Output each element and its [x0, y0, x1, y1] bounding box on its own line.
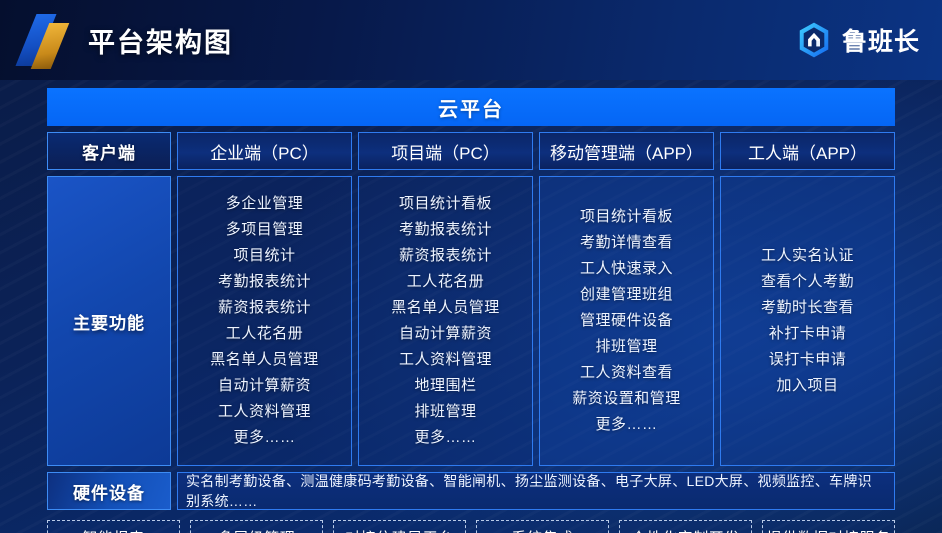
feature-item: 自动计算薪资	[399, 321, 492, 347]
feature-item: 薪资报表统计	[399, 243, 492, 269]
page-title: 平台架构图	[88, 21, 233, 60]
feature-item: 多企业管理	[226, 191, 304, 217]
feature-list-enterprise-pc: 多企业管理多项目管理项目统计考勤报表统计薪资报表统计工人花名册黑名单人员管理自动…	[177, 176, 352, 466]
service-chip[interactable]: 个性化定制开发	[619, 520, 752, 533]
feature-item: 项目统计	[233, 243, 295, 269]
feature-item: 黑名单人员管理	[391, 295, 500, 321]
service-chip[interactable]: 多层级管理	[190, 520, 323, 533]
decorative-slash-logo-icon	[14, 14, 66, 66]
brand-name: 鲁班长	[842, 22, 920, 58]
feature-item: 考勤报表统计	[399, 217, 492, 243]
client-header-worker-app[interactable]: 工人端（APP）	[720, 132, 895, 170]
service-chip[interactable]: 对接住建局平台	[333, 520, 466, 533]
feature-list-project-pc: 项目统计看板考勤报表统计薪资报表统计工人花名册黑名单人员管理自动计算薪资工人资料…	[358, 176, 533, 466]
hardware-row: 硬件设备 实名制考勤设备、测温健康码考勤设备、智能闸机、扬尘监测设备、电子大屏、…	[47, 472, 895, 510]
diagram-body: 云平台 客户端 企业端（PC） 项目端（PC） 移动管理端（APP） 工人端（A…	[0, 80, 942, 533]
row-label-client: 客户端	[47, 132, 171, 170]
service-chip[interactable]: 提供数据对接服务	[762, 520, 895, 533]
brand-logo: 鲁班长	[795, 21, 920, 59]
cloud-platform-banner: 云平台	[47, 88, 895, 126]
platform-architecture-diagram: 平台架构图 鲁班长 云平台 客户端 企业端（PC） 项	[0, 0, 942, 533]
feature-item: 工人资料管理	[399, 347, 492, 373]
feature-item: 项目统计看板	[399, 191, 492, 217]
feature-item: 更多……	[414, 425, 476, 451]
feature-item: 考勤时长查看	[761, 295, 854, 321]
row-label-hardware: 硬件设备	[47, 472, 171, 510]
client-header-mobile-admin-app[interactable]: 移动管理端（APP）	[539, 132, 714, 170]
feature-item: 管理硬件设备	[580, 308, 673, 334]
feature-item: 地理围栏	[414, 373, 476, 399]
feature-item: 多项目管理	[226, 217, 304, 243]
feature-item: 薪资报表统计	[218, 295, 311, 321]
feature-item: 排班管理	[595, 334, 657, 360]
feature-item: 更多……	[595, 412, 657, 438]
feature-list-mobile-admin-app: 项目统计看板考勤详情查看工人快速录入创建管理班组管理硬件设备排班管理工人资料查看…	[539, 176, 714, 466]
service-chip[interactable]: 系统集成	[476, 520, 609, 533]
feature-item: 工人花名册	[226, 321, 304, 347]
hardware-device-list: 实名制考勤设备、测温健康码考勤设备、智能闸机、扬尘监测设备、电子大屏、LED大屏…	[177, 472, 895, 510]
feature-item: 排班管理	[414, 399, 476, 425]
feature-item: 黑名单人员管理	[210, 347, 319, 373]
row-label-main-features: 主要功能	[47, 176, 171, 466]
main-features-row: 主要功能 多企业管理多项目管理项目统计考勤报表统计薪资报表统计工人花名册黑名单人…	[47, 176, 895, 466]
feature-item: 误打卡申请	[769, 347, 847, 373]
client-header-row: 客户端 企业端（PC） 项目端（PC） 移动管理端（APP） 工人端（APP）	[47, 132, 895, 170]
feature-item: 工人资料查看	[580, 360, 673, 386]
client-header-project-pc[interactable]: 项目端（PC）	[358, 132, 533, 170]
feature-item: 工人实名认证	[761, 243, 854, 269]
service-chip[interactable]: 智能报表	[47, 520, 180, 533]
feature-item: 补打卡申请	[769, 321, 847, 347]
hexagon-building-icon	[795, 21, 833, 59]
feature-item: 考勤详情查看	[580, 230, 673, 256]
feature-item: 自动计算薪资	[218, 373, 311, 399]
feature-item: 考勤报表统计	[218, 269, 311, 295]
page-header: 平台架构图 鲁班长	[0, 0, 942, 80]
service-chip-row: 智能报表多层级管理对接住建局平台系统集成个性化定制开发提供数据对接服务	[47, 520, 895, 533]
client-header-enterprise-pc[interactable]: 企业端（PC）	[177, 132, 352, 170]
feature-item: 工人快速录入	[580, 256, 673, 282]
feature-item: 查看个人考勤	[761, 269, 854, 295]
feature-item: 工人资料管理	[218, 399, 311, 425]
feature-item: 项目统计看板	[580, 204, 673, 230]
feature-item: 加入项目	[776, 373, 838, 399]
feature-item: 薪资设置和管理	[572, 386, 681, 412]
feature-item: 创建管理班组	[580, 282, 673, 308]
feature-list-worker-app: 工人实名认证查看个人考勤考勤时长查看补打卡申请误打卡申请加入项目	[720, 176, 895, 466]
feature-item: 更多……	[233, 425, 295, 451]
feature-item: 工人花名册	[407, 269, 485, 295]
